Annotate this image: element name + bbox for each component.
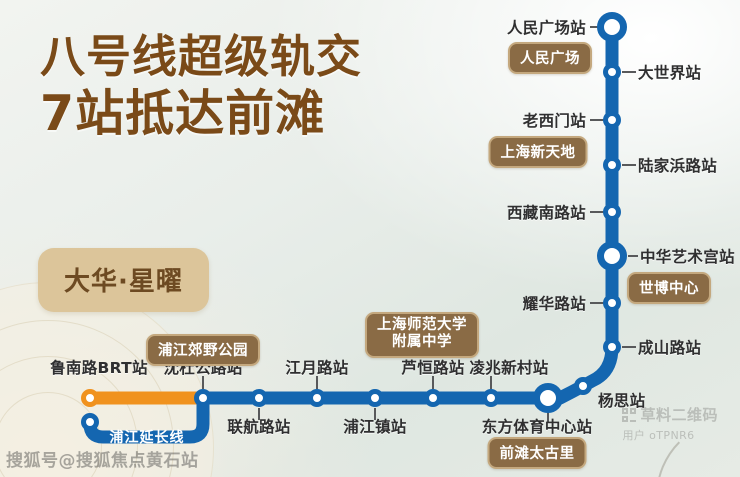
station-dot-lujiabang-lu[interactable] xyxy=(603,156,621,174)
station-dot-laoximen[interactable] xyxy=(603,111,621,129)
station-label-pujiang-zhen: 浦江镇站 xyxy=(343,415,406,437)
station-label-lunan-lu-brt: 鲁南路BRT站 xyxy=(50,356,148,378)
station-dot-yangsi[interactable] xyxy=(574,377,592,395)
station-dot-branch-terminus[interactable] xyxy=(81,413,99,431)
station-label-dongfang-tiyu-zhongxin: 东方体育中心站 xyxy=(482,415,593,437)
poi-tag-shishifan-fuzhong: 上海师范大学 附属中学 xyxy=(365,312,479,358)
station-dot-lingzhao-xincun[interactable] xyxy=(482,389,500,407)
brand-badge: 大华·星曜 xyxy=(38,248,209,312)
station-label-dashijie: 大世界站 xyxy=(638,61,701,83)
tick-laoximen xyxy=(590,119,604,121)
station-dot-lunan-lu-brt[interactable] xyxy=(81,389,99,407)
poi-tag-shishifan-line1: 上海师范大学 xyxy=(377,317,467,334)
station-dot-shendu-gonglu[interactable] xyxy=(194,389,212,407)
brand-name: 大华·星曜 xyxy=(64,261,183,298)
branch-line-label: 浦江延长线 xyxy=(110,427,185,447)
caoliao-title: 草料二维码 xyxy=(640,406,718,424)
caoliao-watermark: 草料二维码 用户 oTPNR6 xyxy=(622,404,718,443)
caoliao-title-row: 草料二维码 xyxy=(622,404,718,425)
poi-tag-qiantan-taikooli: 前滩太古里 xyxy=(488,437,587,469)
metro-line-poster: 八号线超级轨交 7站抵达前滩 大华·星曜 xyxy=(0,0,740,477)
station-dot-chengshan-lu[interactable] xyxy=(603,338,621,356)
station-label-chengshan-lu: 成山路站 xyxy=(638,336,701,358)
station-dot-dashijie[interactable] xyxy=(603,63,621,81)
tick-yaohua xyxy=(590,302,604,304)
sohu-watermark: 搜狐号@搜狐焦点黄石站 xyxy=(6,446,199,471)
tick-lujiabang xyxy=(622,164,636,166)
station-dot-pujiang-zhen[interactable] xyxy=(366,389,384,407)
poi-tag-xintiandi: 上海新天地 xyxy=(489,136,588,168)
station-dot-luheng-lu[interactable] xyxy=(424,389,442,407)
poi-tag-pujiang-jiaoye-gongyuan: 浦江郊野公园 xyxy=(146,334,260,366)
station-label-lianhang-lu: 联航路站 xyxy=(227,415,290,437)
station-label-lujiabang-lu: 陆家浜路站 xyxy=(638,154,717,176)
station-dot-zhonghua-yishugong[interactable] xyxy=(597,241,627,271)
station-dot-renmin-guangchang[interactable] xyxy=(597,12,627,42)
qr-code-icon xyxy=(622,408,636,422)
headline-block: 八号线超级轨交 7站抵达前滩 xyxy=(40,34,362,140)
station-dot-xizang-nan-lu[interactable] xyxy=(603,203,621,221)
station-label-xizang-nan-lu: 西藏南路站 xyxy=(507,201,586,223)
tick-xizangnan xyxy=(590,211,604,213)
headline-line-2: 7站抵达前滩 xyxy=(40,89,362,140)
poi-tag-shishifan-line2: 附属中学 xyxy=(377,334,467,351)
station-label-luheng-lu: 芦恒路站 xyxy=(401,356,464,378)
station-dot-lianhang-lu[interactable] xyxy=(250,389,268,407)
station-dot-dongfang-tiyu-zhongxin[interactable] xyxy=(533,383,563,413)
tick-zhonghua xyxy=(628,255,638,257)
caoliao-user: 用户 oTPNR6 xyxy=(622,427,718,443)
station-label-yaohua-lu: 耀华路站 xyxy=(523,292,586,314)
station-label-zhonghua-yishugong: 中华艺术宫站 xyxy=(640,245,735,267)
tick-chengshan xyxy=(622,346,636,348)
station-label-jiangyue-lu: 江月路站 xyxy=(285,356,348,378)
poi-tag-renmin-guangchang: 人民广场 xyxy=(508,42,592,74)
poi-tag-shibo-zhongxin: 世博中心 xyxy=(627,272,711,304)
station-label-lingzhao-xincun: 凌兆新村站 xyxy=(469,356,548,378)
station-dot-jiangyue-lu[interactable] xyxy=(308,389,326,407)
station-label-renmin-guangchang: 人民广场站 xyxy=(507,16,586,38)
station-label-laoximen: 老西门站 xyxy=(523,109,586,131)
tick-dashijie xyxy=(622,71,636,73)
headline-line-1: 八号线超级轨交 xyxy=(40,34,362,81)
station-dot-yaohua-lu[interactable] xyxy=(603,294,621,312)
